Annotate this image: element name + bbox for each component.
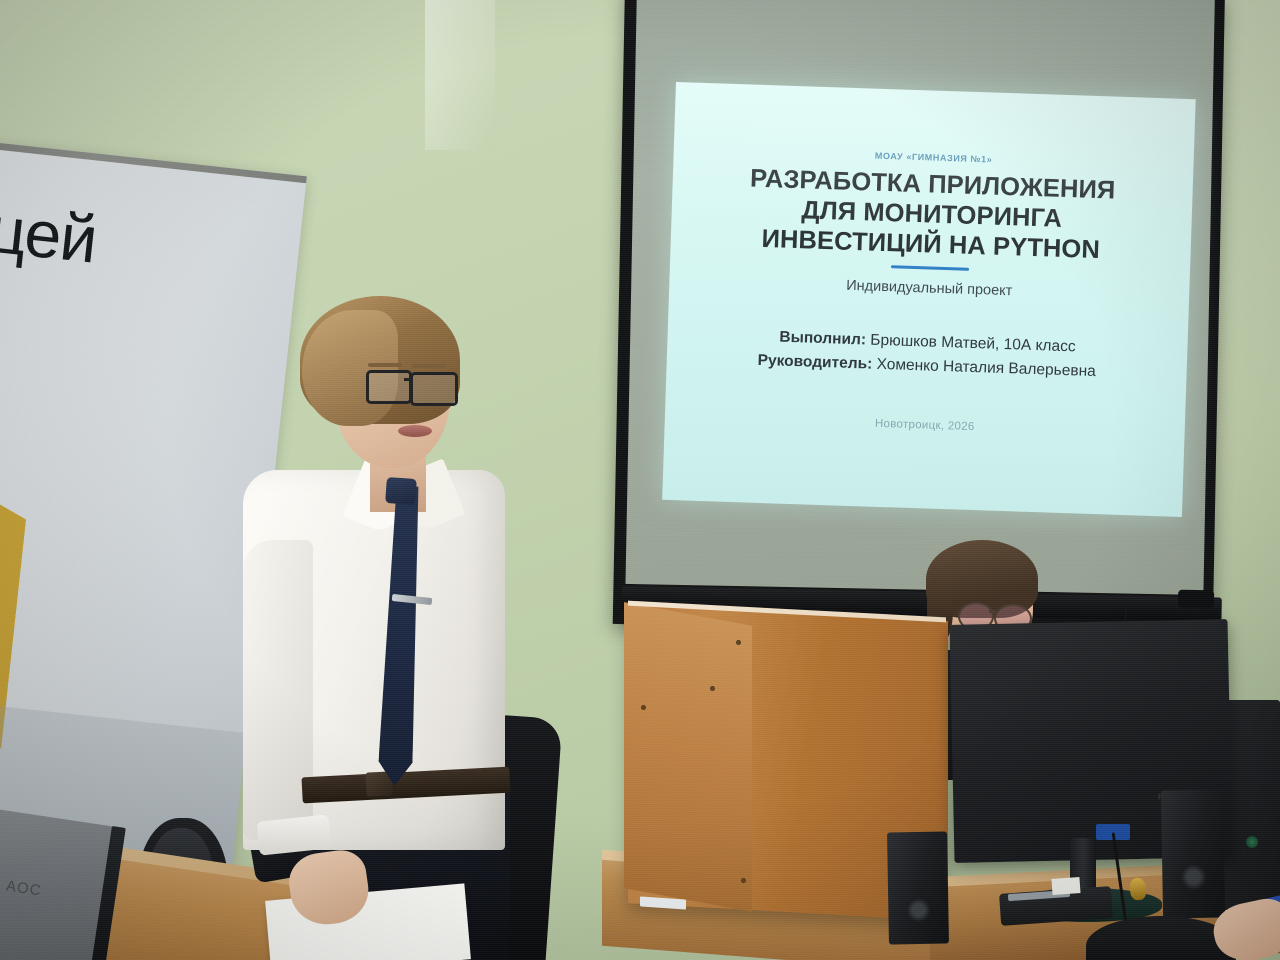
slide-divider-rule <box>891 266 969 272</box>
presenter-glasses-left <box>366 370 412 404</box>
presenter-glasses-bridge <box>404 378 412 381</box>
presenter-eyebrow-left <box>368 363 402 367</box>
slide-organization: МОАУ «ГИМНАЗИЯ №1» <box>875 151 993 165</box>
pc-power-led <box>1246 836 1258 848</box>
podium-screw <box>736 640 741 645</box>
banner-yellow-shape <box>0 407 36 749</box>
projection-screen-roller-cap <box>1178 590 1214 609</box>
podium-screw <box>710 686 715 691</box>
slide-author-name: Брюшков Матвей, 10А класс <box>870 332 1076 356</box>
speaker-cone <box>1180 864 1206 890</box>
slide-supervisor-name: Хоменко Наталия Валерьевна <box>876 356 1096 380</box>
slide-place-year: Новотроицк, 2026 <box>875 418 975 433</box>
projected-slide: МОАУ «ГИМНАЗИЯ №1» РАЗРАБОТКА ПРИЛОЖЕНИЯ… <box>662 82 1196 517</box>
slide-author-label: Выполнил: <box>779 329 866 349</box>
desk-speaker-left <box>887 831 949 944</box>
slide-subtitle: Индивидуальный проект <box>846 278 1013 300</box>
slide-supervisor-label: Руководитель: <box>757 352 872 373</box>
slide-title: РАЗРАБОТКА ПРИЛОЖЕНИЯ ДЛЯ МОНИТОРИНГА ИН… <box>720 164 1143 267</box>
presenter-mouth <box>398 425 432 437</box>
ceiling-corner <box>425 0 495 150</box>
paper-note <box>1051 877 1080 895</box>
seated-teacher-glasses-bridge <box>989 610 996 613</box>
presenter-tie-knot <box>385 477 417 505</box>
photo-scene: екс Лицей МОАУ «ГИМНАЗИЯ №1» РАЗРАБОТКА … <box>0 0 1280 960</box>
speaker-cone <box>906 898 930 922</box>
presenter-glasses-right <box>410 372 458 406</box>
desk-speaker-right <box>1161 789 1225 918</box>
podium-side-panel <box>624 602 752 912</box>
banner-title: екс Лицей <box>0 170 320 302</box>
presenter-hair-fringe <box>302 310 398 426</box>
slide-credits: Выполнил: Брюшков Матвей, 10А класс Руко… <box>757 325 1097 383</box>
podium-screw <box>641 705 646 710</box>
presenter-eyebrow-right <box>412 364 446 368</box>
podium-screw <box>741 878 746 883</box>
